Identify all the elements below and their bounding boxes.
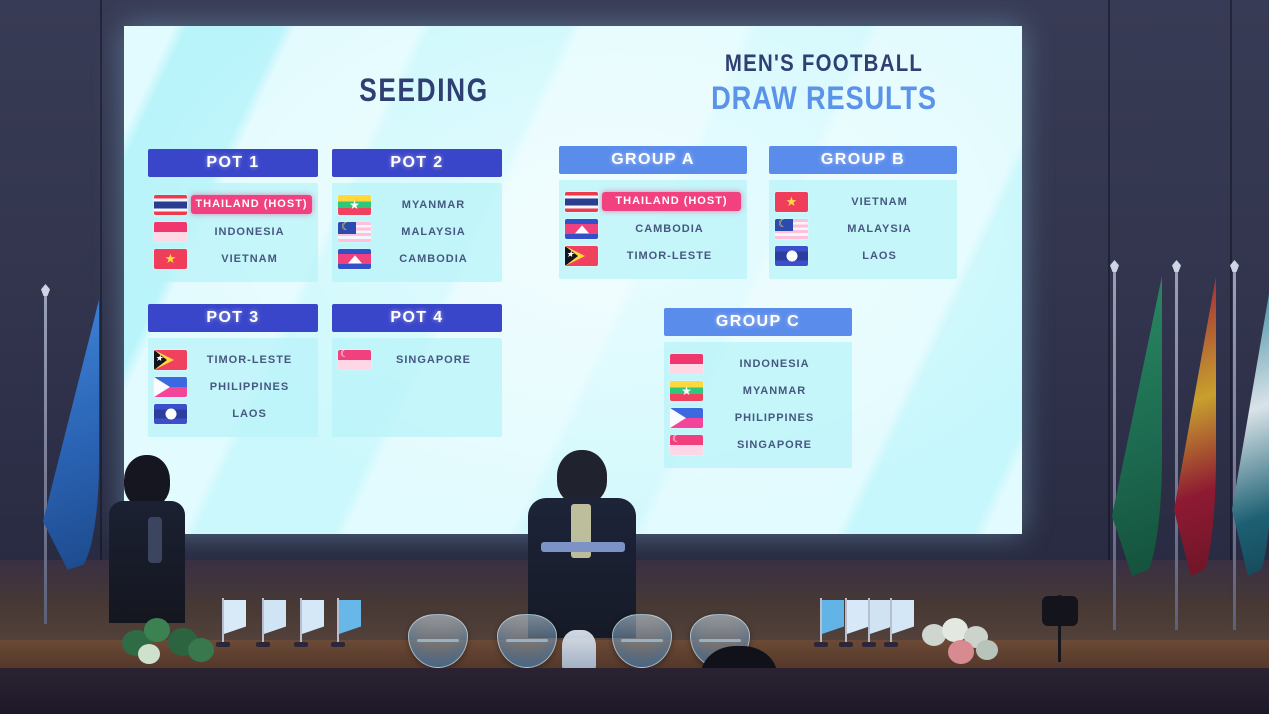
table-flag <box>845 598 847 644</box>
red-yellow-pole-flag <box>1175 270 1178 630</box>
pot-1-header: POT 1 <box>148 149 318 177</box>
blue-pole-flag <box>44 294 47 624</box>
team-name: TIMOR-LESTE <box>187 354 312 366</box>
team-name: SINGAPORE <box>703 439 846 451</box>
timor-leste-flag: ★ <box>154 350 187 370</box>
team-name: TIMOR-LESTE <box>598 250 741 262</box>
pot-3-card: POT 3 ★ TIMOR-LESTE PHILIPPINES LAOS <box>148 304 318 437</box>
team-row: MALAYSIA <box>332 218 502 245</box>
singapore-flag <box>338 350 371 370</box>
malaysia-flag <box>338 222 371 242</box>
pot-3-header: POT 3 <box>148 304 318 332</box>
vietnam-flag <box>154 249 187 269</box>
pot-4-card: POT 4 SINGAPORE <box>332 304 502 437</box>
vietnam-flag <box>775 192 808 212</box>
group-b-team-list: VIETNAM MALAYSIA LAOS <box>769 180 957 279</box>
malaysia-flag <box>775 219 808 239</box>
cambodia-flag <box>565 219 598 239</box>
team-name: MYANMAR <box>703 385 846 397</box>
presenter-center <box>527 450 637 630</box>
draw-card-in-hand <box>541 542 625 552</box>
team-name: PHILIPPINES <box>703 412 846 424</box>
singapore-flag <box>670 435 703 455</box>
team-row: SINGAPORE <box>664 431 852 458</box>
table-flag <box>262 598 264 644</box>
indonesia-flag <box>154 222 187 242</box>
team-row: CAMBODIA <box>332 245 502 272</box>
green-pole-flag <box>1113 270 1116 630</box>
team-name: INDONESIA <box>703 358 846 370</box>
cambodia-flag <box>338 249 371 269</box>
team-row: MYANMAR <box>332 191 502 218</box>
team-row: SINGAPORE <box>332 346 502 373</box>
flag-finial-icon <box>1110 260 1119 272</box>
teal-pole-flag <box>1233 270 1236 630</box>
trophy-ornament <box>562 630 596 670</box>
group-c-header: GROUP C <box>664 308 852 336</box>
pot-4-header: POT 4 <box>332 304 502 332</box>
team-row: ★ TIMOR-LESTE <box>559 242 747 269</box>
thailand-flag <box>154 195 187 215</box>
team-row: PHILIPPINES <box>148 373 318 400</box>
flag-finial-icon <box>1172 260 1181 272</box>
seeding-title: SEEDING <box>301 72 547 109</box>
pot-2-card: POT 2 MYANMAR MALAYSIA CAMBODIA <box>332 149 502 282</box>
flag-finial-icon <box>41 284 50 296</box>
team-row: PHILIPPINES <box>664 404 852 431</box>
standing-attendee-left <box>108 455 186 620</box>
team-row: THAILAND (HOST) <box>148 191 318 218</box>
laos-flag <box>154 404 187 424</box>
team-row: ★ TIMOR-LESTE <box>148 346 318 373</box>
team-row: INDONESIA <box>148 218 318 245</box>
pot-1-card: POT 1 THAILAND (HOST) INDONESIA VIETNAM <box>148 149 318 282</box>
table-front-panel <box>0 668 1269 714</box>
table-flag <box>337 598 339 644</box>
flower-arrangement-right <box>920 614 1006 672</box>
pot-4-team-list: SINGAPORE <box>332 338 502 437</box>
pot-2-team-list: MYANMAR MALAYSIA CAMBODIA <box>332 183 502 282</box>
team-name: CAMBODIA <box>598 223 741 235</box>
team-name: INDONESIA <box>187 226 312 238</box>
group-b-header: GROUP B <box>769 146 957 174</box>
thailand-flag <box>565 192 598 212</box>
draw-title-line2: DRAW RESULTS <box>654 80 994 117</box>
team-row: LAOS <box>148 400 318 427</box>
team-row: MALAYSIA <box>769 215 957 242</box>
table-flag <box>890 598 892 644</box>
team-name: THAILAND (HOST) <box>602 192 741 211</box>
team-row: INDONESIA <box>664 350 852 377</box>
draw-title-line1: MEN'S FOOTBALL <box>654 50 994 78</box>
group-b-card: GROUP B VIETNAM MALAYSIA LAOS <box>769 146 957 279</box>
myanmar-flag <box>338 195 371 215</box>
microphone-base <box>1042 596 1078 626</box>
team-row: LAOS <box>769 242 957 269</box>
group-c-card: GROUP C INDONESIA MYANMAR PHILIPPINES <box>664 308 852 468</box>
table-flag <box>820 598 822 644</box>
table-flag <box>868 598 870 644</box>
flower-arrangement-left <box>118 612 226 672</box>
table-flag <box>300 598 302 644</box>
group-a-header: GROUP A <box>559 146 747 174</box>
draw-results-title: MEN'S FOOTBALL DRAW RESULTS <box>624 50 1022 117</box>
team-row: THAILAND (HOST) <box>559 188 747 215</box>
conference-room: SEEDING MEN'S FOOTBALL DRAW RESULTS POT … <box>0 0 1269 714</box>
team-row: MYANMAR <box>664 377 852 404</box>
indonesia-flag <box>670 354 703 374</box>
pot-2-header: POT 2 <box>332 149 502 177</box>
group-a-team-list: THAILAND (HOST) CAMBODIA ★ TIMOR-LESTE <box>559 180 747 279</box>
myanmar-flag <box>670 381 703 401</box>
pot-3-team-list: ★ TIMOR-LESTE PHILIPPINES LAOS <box>148 338 318 437</box>
team-name: CAMBODIA <box>371 253 496 265</box>
team-row: CAMBODIA <box>559 215 747 242</box>
team-name: LAOS <box>808 250 951 262</box>
team-name: MALAYSIA <box>808 223 951 235</box>
team-name: PHILIPPINES <box>187 381 312 393</box>
pot-1-team-list: THAILAND (HOST) INDONESIA VIETNAM <box>148 183 318 282</box>
team-row: VIETNAM <box>148 245 318 272</box>
team-row: VIETNAM <box>769 188 957 215</box>
laos-flag <box>775 246 808 266</box>
team-name: VIETNAM <box>187 253 312 265</box>
team-name: MYANMAR <box>371 199 496 211</box>
philippines-flag <box>670 408 703 428</box>
team-name: SINGAPORE <box>371 354 496 366</box>
team-name: THAILAND (HOST) <box>191 195 312 214</box>
philippines-flag <box>154 377 187 397</box>
group-c-team-list: INDONESIA MYANMAR PHILIPPINES SINGAPORE <box>664 342 852 468</box>
team-name: LAOS <box>187 408 312 420</box>
timor-leste-flag: ★ <box>565 246 598 266</box>
team-name: MALAYSIA <box>371 226 496 238</box>
group-a-card: GROUP A THAILAND (HOST) CAMBODIA ★ TIMOR… <box>559 146 747 279</box>
team-name: VIETNAM <box>808 196 951 208</box>
